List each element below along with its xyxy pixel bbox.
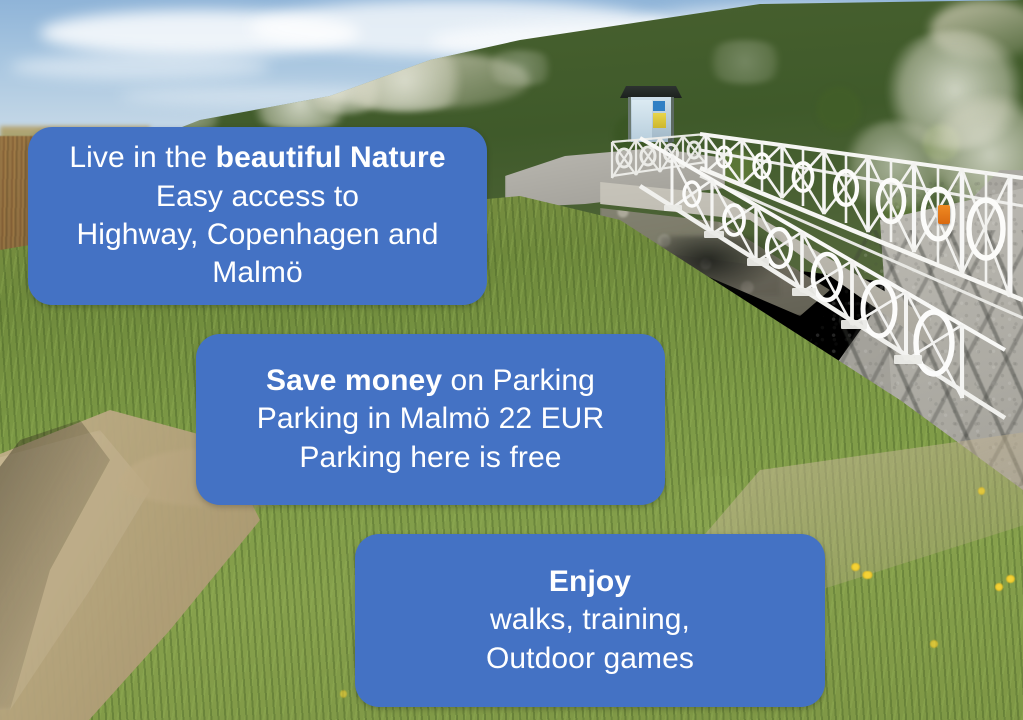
dandelion-flower-icon xyxy=(930,640,938,648)
card-nature-line-3: Highway, Copenhagen and xyxy=(76,216,438,254)
dandelion-flower-icon xyxy=(340,690,347,698)
card-enjoy-line-1-bold: Enjoy xyxy=(549,565,631,598)
card-enjoy-line-2: walks, training, xyxy=(490,601,690,639)
card-parking-line-2: Parking in Malmö 22 EUR xyxy=(257,400,604,438)
dandelion-flower-icon xyxy=(995,583,1003,591)
card-parking: Save money on Parking Parking in Malmö 2… xyxy=(196,334,665,505)
card-enjoy-line-1: Enjoy xyxy=(549,563,631,601)
dandelion-flower-icon xyxy=(851,563,860,571)
card-parking-line-1: Save money on Parking xyxy=(266,362,595,400)
card-nature-line-1-bold: beautiful Nature xyxy=(216,141,446,174)
card-nature-line-2: Easy access to xyxy=(156,178,359,216)
slide-canvas: Live in the beautiful Nature Easy access… xyxy=(0,0,1023,720)
dandelion-flower-icon xyxy=(862,571,873,579)
card-nature: Live in the beautiful Nature Easy access… xyxy=(28,127,487,305)
dandelion-flower-icon xyxy=(978,487,985,495)
card-parking-line-1-bold: Save money xyxy=(266,364,442,397)
card-nature-line-1-normal: Live in the xyxy=(69,141,215,174)
orange-marker-icon xyxy=(938,205,950,224)
dandelion-flower-icon xyxy=(1006,575,1015,583)
card-enjoy-line-3: Outdoor games xyxy=(486,640,694,678)
card-enjoy: Enjoy walks, training, Outdoor games xyxy=(355,534,825,707)
card-parking-line-3: Parking here is free xyxy=(299,439,561,477)
card-nature-line-1: Live in the beautiful Nature xyxy=(69,139,445,177)
card-nature-line-4: Malmö xyxy=(212,254,303,292)
card-parking-line-1-normal: on Parking xyxy=(442,364,595,397)
